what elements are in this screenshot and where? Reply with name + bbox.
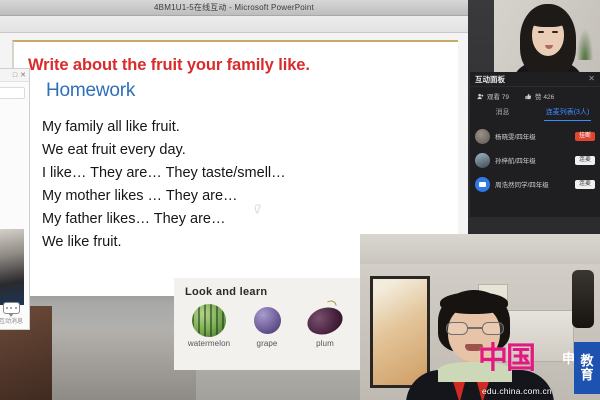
list-item: plum (296, 308, 354, 348)
slide-line: We like fruit. (42, 231, 286, 254)
watermark-logo: 中国 (478, 344, 534, 374)
mini-chat-window[interactable]: □ ✕ 互动消息 (0, 68, 30, 330)
plum-icon (304, 303, 346, 339)
slide-line: My family all like fruit. (42, 116, 286, 139)
fruit-label: plum (296, 339, 354, 348)
avatar (475, 153, 490, 168)
viewers-stat: 观看 79 (477, 91, 509, 101)
avatar (475, 129, 490, 144)
powerpoint-titlebar[interactable]: 4BM1U1-5在线互动 - Microsoft PowerPoint (0, 0, 468, 16)
slide-line: We eat fruit every day. (42, 139, 286, 162)
mini-input-field[interactable] (0, 87, 25, 99)
likes-count: 赞 426 (535, 91, 554, 101)
powerpoint-title: 4BM1U1-5在线互动 - Microsoft PowerPoint (0, 2, 468, 13)
look-and-learn-items: watermelon grape plum (180, 304, 354, 348)
list-item[interactable]: 孙梓航/四年级 连麦 (475, 148, 595, 172)
teacher-video[interactable] (494, 0, 600, 80)
panel-tabs: 消息 连麦列表(3人) (470, 104, 600, 121)
look-and-learn-card: Look and learn watermelon grape plum (174, 278, 360, 370)
participant-name: 杨晓雯/四年级 (495, 131, 570, 141)
chat-bubble-icon[interactable] (3, 302, 20, 314)
maximize-icon[interactable]: □ (13, 72, 17, 79)
likes-stat: 赞 426 (525, 91, 554, 101)
panel-header: 互动面板 ✕ (470, 72, 600, 87)
fruit-label: watermelon (180, 339, 238, 348)
badge-line-2: 育 (580, 368, 593, 382)
mouse-cursor (255, 204, 264, 213)
close-icon[interactable]: ✕ (20, 72, 26, 79)
glasses (446, 322, 504, 335)
mini-window-titlebar[interactable]: □ ✕ (0, 69, 29, 82)
slide-body-text: My family all like fruit. We eat fruit e… (42, 116, 286, 254)
connect-button[interactable]: 连麦 (575, 156, 595, 165)
list-item: watermelon (180, 304, 238, 348)
mini-footer-label: 互动消息 (0, 316, 29, 325)
viewers-count: 观看 79 (487, 91, 509, 101)
wall-picture (370, 276, 430, 388)
list-item: grape (238, 307, 296, 348)
mini-video-thumbnail[interactable] (0, 229, 24, 305)
participant-name: 孙梓航/四年级 (495, 155, 570, 165)
hangup-button[interactable]: 挂断 (575, 132, 595, 141)
slide-line: I like… They are… They taste/smell… (42, 162, 286, 185)
screen-root: 4BM1U1-5在线互动 - Microsoft PowerPoint Writ… (0, 0, 600, 400)
plant-decor (576, 26, 594, 60)
grape-icon (254, 307, 281, 334)
panel-title: 互动面板 (475, 74, 505, 85)
list-item[interactable]: 周浩然同学/四年级 连麦 (475, 172, 595, 196)
thumbs-up-icon (525, 93, 532, 100)
watermark-url: edu.china.com.cn (482, 386, 552, 396)
panel-stats: 观看 79 赞 426 (470, 87, 600, 104)
mini-window-footer[interactable]: 互动消息 (0, 302, 29, 325)
watermelon-icon (192, 304, 226, 337)
slide-line: My father likes… They are… (42, 208, 286, 231)
tab-participant-list[interactable]: 连麦列表(3人) (535, 104, 600, 121)
interaction-panel[interactable]: 互动面板 ✕ 观看 79 赞 426 消息 连麦列 (470, 72, 600, 217)
powerpoint-ribbon[interactable] (0, 16, 468, 33)
slide-subheading: Homework (46, 80, 135, 102)
participant-list: 杨晓雯/四年级 挂断 孙梓航/四年级 连麦 周浩然同学/四年级 连麦 (470, 121, 600, 196)
participant-name: 周浩然同学/四年级 (495, 179, 570, 189)
close-icon[interactable]: ✕ (588, 75, 595, 83)
badge-line-1: 教 (580, 354, 593, 368)
slide-line: My mother likes … They are… (42, 185, 286, 208)
avatar (475, 177, 490, 192)
tab-messages[interactable]: 消息 (470, 104, 535, 121)
slide-heading: Write about the fruit your family like. (28, 56, 310, 75)
fruit-label: grape (238, 339, 296, 348)
look-and-learn-title: Look and learn (185, 286, 267, 298)
list-item[interactable]: 杨晓雯/四年级 挂断 (475, 124, 595, 148)
dark-object (572, 270, 594, 328)
watermark: 中国 申 教 育 edu.china.com.cn (478, 340, 600, 398)
watermark-badge: 教 育 (574, 342, 600, 394)
connect-button[interactable]: 连麦 (575, 180, 595, 189)
viewers-icon (477, 93, 484, 100)
